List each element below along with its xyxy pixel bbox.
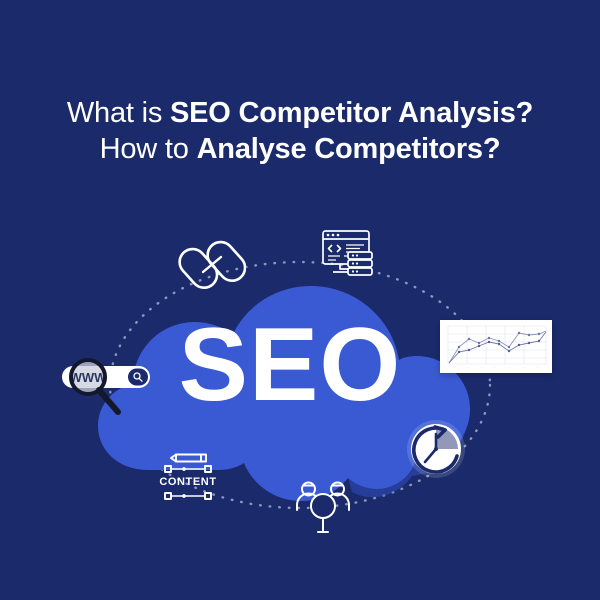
svg-text:·····: ····· [521, 366, 525, 369]
clock-pie-icon [405, 418, 467, 480]
poster-canvas: What is SEO Competitor Analysis? How to … [0, 0, 600, 600]
chain-link-icon [178, 231, 246, 299]
search-query-text: WWW [70, 370, 108, 385]
svg-text:·····: ····· [451, 366, 455, 369]
headline-line-2-bold: Analyse Competitors? [197, 133, 501, 165]
headline-line-2: How to Analyse Competitors? [0, 132, 600, 168]
svg-text:·····: ····· [507, 366, 511, 369]
headline-line-1-bold: SEO Competitor Analysis? [170, 97, 533, 129]
headline-line-2-light: How to [100, 133, 197, 165]
search-bar-magnifier-icon[interactable]: WWW [54, 355, 162, 433]
cloud-label: SEO [179, 307, 402, 423]
svg-text:·····: ····· [479, 366, 483, 369]
code-monitor-icon [320, 228, 380, 286]
seo-illustration: SEO [0, 200, 600, 600]
svg-text:·····: ····· [493, 366, 497, 369]
analytics-chart-card: ·········· ·········· ·········· ····· [440, 320, 552, 373]
headline-line-1: What is SEO Competitor Analysis? [0, 96, 600, 132]
svg-text:·····: ····· [465, 366, 469, 369]
svg-text:·····: ····· [535, 366, 539, 369]
line-chart: ·········· ·········· ·········· ····· [440, 320, 552, 373]
content-pencil-icon: CONTENT [158, 448, 220, 510]
page-title: What is SEO Competitor Analysis? How to … [0, 96, 600, 168]
audience-research-icon [292, 477, 354, 539]
headline-line-1-light: What is [67, 97, 170, 129]
content-label: CONTENT [159, 476, 216, 488]
